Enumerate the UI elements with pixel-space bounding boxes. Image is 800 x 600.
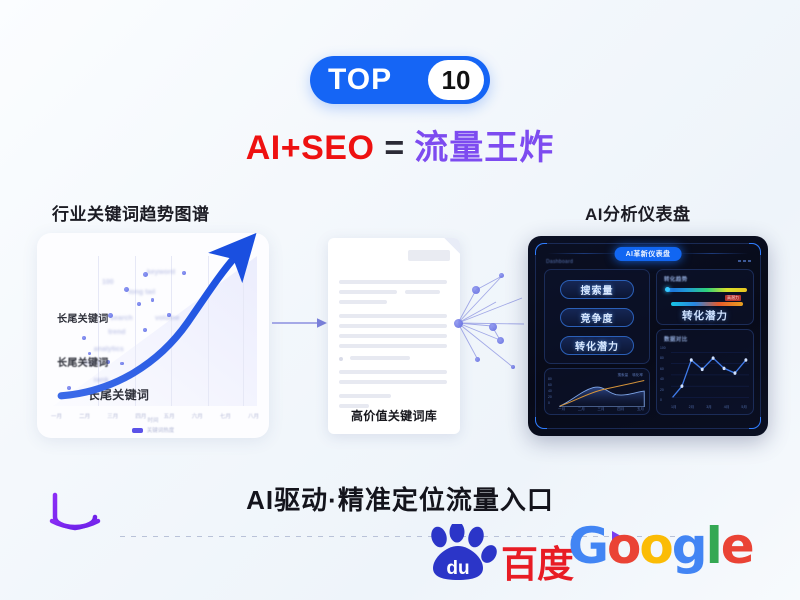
gauge-overlay-text: 转化潜力	[657, 308, 753, 323]
network-node	[497, 337, 504, 344]
comparison-chart-panel: 数据对比 100 80 60 40 20 0	[656, 329, 754, 415]
top-rank-badge: TOP 10	[310, 56, 490, 104]
y-tick: 60	[548, 383, 552, 387]
doc-text-line	[339, 380, 447, 384]
comparison-line-chart	[671, 345, 749, 403]
doc-bullet-icon	[339, 357, 343, 361]
gauge-bar	[671, 302, 743, 306]
node-network-graphic	[456, 268, 526, 378]
area-chart	[558, 377, 646, 407]
header-rule	[676, 253, 748, 254]
google-letter: o	[607, 517, 639, 575]
y-tick: 80	[548, 377, 552, 381]
header-rule	[548, 253, 620, 254]
legend-swatch-icon	[132, 428, 143, 433]
gauge-panel-title: 转化趋势	[664, 275, 688, 283]
x-axis-caption: 时间	[37, 416, 269, 424]
network-node	[489, 323, 497, 331]
doc-header-tag	[408, 250, 450, 261]
x-tick: 三月	[597, 407, 604, 412]
gauge-chip-badge: 高潜力	[725, 295, 741, 301]
area-y-axis: 80 60 40 20 0	[548, 377, 552, 405]
trend-arrow	[53, 243, 257, 406]
doc-text-line	[339, 280, 447, 284]
google-letter: g	[672, 517, 706, 575]
y-tick: 0	[660, 398, 666, 402]
corner-accent-icon	[749, 417, 761, 429]
doc-text-line	[339, 370, 447, 374]
page-title: AI+SEO=流量王炸	[0, 128, 800, 169]
dashboard-frame: AI革新仪表盘 Dashboard 搜索量 竞争度 转化潜力 转化趋势 高潜力 …	[535, 243, 761, 429]
network-node	[454, 319, 463, 328]
trend-chart-plot: keyword long tail search volume trend an…	[53, 243, 257, 406]
metric-pill-conversion[interactable]: 转化潜力	[560, 336, 634, 355]
network-node	[472, 286, 480, 294]
slide-canvas: TOP 10 AI+SEO=流量王炸 行业关键词趋势图谱 AI分析仪表盘 key…	[0, 0, 800, 600]
doc-text-line	[339, 314, 447, 318]
gauge-bar	[667, 288, 747, 292]
y-tick: 60	[660, 367, 666, 371]
section-label-trend: 行业关键词趋势图谱	[52, 200, 210, 225]
area-chart-panel: 搜索量 转化率 80 60 40 20 0	[544, 368, 650, 415]
headline-right: 流量王炸	[414, 129, 554, 167]
y-tick: 100	[660, 346, 666, 350]
doc-text-line	[339, 344, 447, 348]
google-letter: e	[721, 517, 753, 575]
y-tick: 40	[660, 377, 666, 381]
comparison-y-axis: 100 80 60 40 20 0	[660, 346, 666, 402]
doc-text-line	[339, 324, 447, 328]
y-tick: 20	[660, 388, 666, 392]
y-tick: 0	[548, 401, 552, 405]
comparison-chart-title: 数据对比	[664, 335, 688, 343]
network-node	[511, 365, 515, 369]
doc-text-line	[350, 356, 410, 360]
x-tick: 1月	[671, 405, 677, 410]
x-tick: 二月	[578, 407, 585, 412]
x-tick: 3月	[706, 405, 712, 410]
gauge-knob[interactable]	[665, 287, 670, 292]
document-title: 高价值关键词库	[328, 407, 460, 424]
dashboard-title-badge: AI革新仪表盘	[615, 247, 682, 261]
ai-dashboard: AI革新仪表盘 Dashboard 搜索量 竞争度 转化潜力 转化趋势 高潜力 …	[528, 236, 768, 436]
flow-arrow-icon	[272, 316, 328, 330]
menu-dots-icon[interactable]	[738, 260, 751, 262]
headline-left: AI+SEO	[246, 129, 375, 167]
comparison-x-axis: 1月 2月 3月 4月 5月	[671, 405, 747, 410]
y-tick: 40	[548, 389, 552, 393]
x-tick: 五月	[637, 407, 644, 412]
x-tick: 一月	[558, 407, 565, 412]
doc-text-line	[405, 290, 440, 294]
footer-tagline: AI驱动·精准定位流量入口	[0, 480, 800, 517]
baidu-paw-icon: du	[425, 524, 499, 582]
area-x-axis: 一月 二月 三月 四月 五月	[558, 407, 644, 412]
x-tick: 5月	[741, 405, 747, 410]
metric-pill-search-volume[interactable]: 搜索量	[560, 280, 634, 299]
headline-operator: =	[384, 129, 404, 167]
corner-accent-icon	[535, 243, 547, 255]
top-number: 10	[428, 60, 484, 100]
legend-label: 关键词热度	[147, 426, 175, 434]
section-label-dashboard: AI分析仪表盘	[585, 200, 691, 225]
network-node	[475, 357, 480, 362]
y-tick: 80	[660, 356, 666, 360]
baidu-wordmark: 百度	[501, 547, 573, 582]
network-node	[499, 273, 504, 278]
x-tick: 四月	[617, 407, 624, 412]
baidu-logo: du 百度	[425, 524, 573, 582]
doc-text-line	[339, 394, 391, 398]
keyword-document-card: 高价值关键词库	[328, 238, 460, 434]
trend-legend: 关键词热度	[37, 426, 269, 434]
x-tick: 4月	[724, 405, 730, 410]
doc-text-line	[339, 334, 447, 338]
metric-pill-competition[interactable]: 竞争度	[560, 308, 634, 327]
trend-chart-card: keyword long tail search volume trend an…	[37, 233, 269, 438]
top-label: TOP	[328, 65, 428, 95]
x-tick: 2月	[689, 405, 695, 410]
doc-text-line	[339, 290, 397, 294]
google-letter: o	[639, 517, 671, 575]
metrics-panel: 搜索量 竞争度 转化潜力	[544, 269, 650, 364]
google-letter: G	[568, 517, 607, 575]
baidu-mark-text: du	[446, 558, 469, 579]
gauge-panel: 转化趋势 高潜力 转化潜力	[656, 269, 754, 325]
doc-text-line	[339, 300, 387, 304]
google-letter: l	[706, 517, 721, 575]
corner-accent-icon	[535, 417, 547, 429]
corner-accent-icon	[749, 243, 761, 255]
google-logo: Google	[568, 521, 753, 571]
dashboard-subtitle: Dashboard	[546, 259, 573, 265]
bar-chart-pedestal-icon	[44, 487, 106, 537]
y-tick: 20	[548, 395, 552, 399]
